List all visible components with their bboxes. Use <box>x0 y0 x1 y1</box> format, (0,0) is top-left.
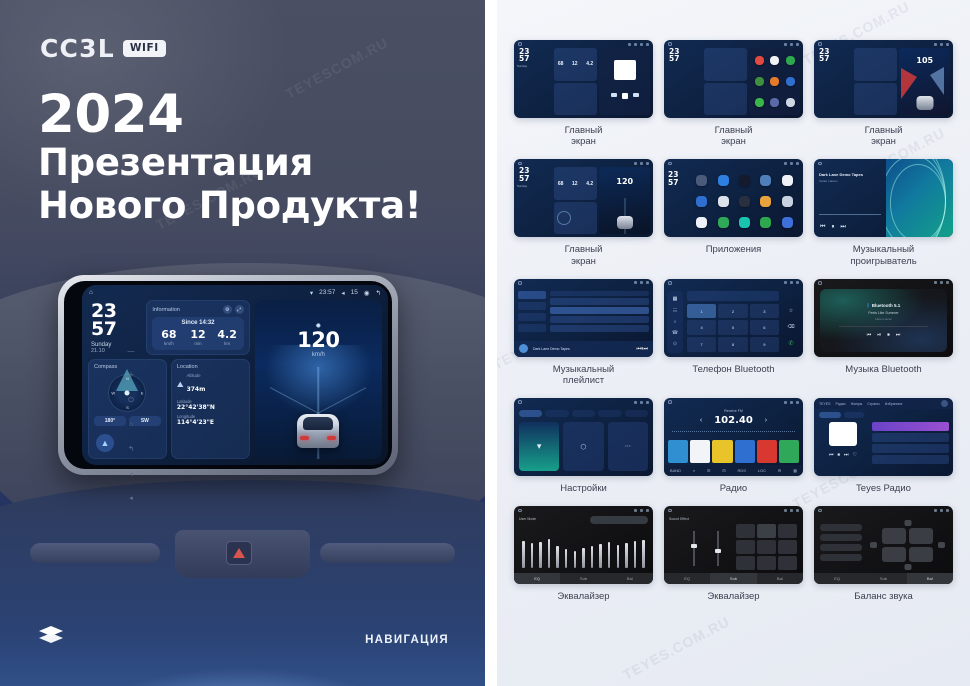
thumb-stat: 12 <box>572 61 578 67</box>
app-icon[interactable] <box>770 77 779 86</box>
radio-controls[interactable]: ⏮ ⏹ ⏭ ♡ <box>819 452 867 458</box>
list-item[interactable] <box>550 291 649 296</box>
balance-right-button[interactable] <box>938 542 945 548</box>
thumb-stats: 68 12 4.2 <box>554 167 598 200</box>
teyes-radio-filters[interactable] <box>819 412 948 418</box>
status-dot <box>790 43 793 46</box>
thumbnail-bt-music[interactable]: ᛒ Bluetooth 5.1 Feels Like Summer Carter… <box>814 279 953 357</box>
preset-button[interactable] <box>757 556 776 570</box>
thumb-widgets: 68 12 4.2 <box>554 167 598 234</box>
thumb-clock: 23 57 Sunday <box>517 167 552 234</box>
home-icon <box>668 162 672 166</box>
track-info: Dark Lane Demo Tapes Carter Lauren <box>819 172 884 183</box>
plus-icon[interactable]: ＋ <box>128 372 135 379</box>
preset-button[interactable] <box>736 524 755 538</box>
eq-preset-selector[interactable] <box>590 516 648 524</box>
thumb-clock: 23 57 Sunday <box>517 48 552 115</box>
tab-eq[interactable]: EQ <box>664 573 710 584</box>
gallery-item[interactable]: Receive FM ‹ 102.40 › <box>664 398 803 494</box>
filter-chip[interactable] <box>844 412 864 418</box>
compass-west: W <box>111 391 115 396</box>
station-row[interactable] <box>872 422 949 431</box>
tab-sub[interactable]: Sub <box>710 573 756 584</box>
trip-stat: 4.2 km <box>213 329 242 346</box>
thumbnail-home-apps[interactable]: 23 57 <box>664 40 803 118</box>
more-card[interactable]: ⋯ <box>608 422 648 471</box>
balance-left-button[interactable] <box>870 542 877 548</box>
screen-left-column: 23 57 Sunday 21.10 Information <box>88 300 250 459</box>
station-list[interactable] <box>872 422 949 472</box>
thumb-speed: 105 <box>899 56 950 65</box>
eq-slider[interactable] <box>531 543 534 569</box>
thumbnail-home-road[interactable]: 23 57 Sunday 68 12 4.2 <box>514 159 653 237</box>
wifi-card[interactable]: ▾ <box>519 422 559 471</box>
preset-button[interactable] <box>757 524 776 538</box>
band-icon[interactable]: BAND <box>670 468 681 473</box>
dialpad-key[interactable]: 5 <box>718 320 747 335</box>
settings-tabs[interactable] <box>519 410 648 417</box>
thumbnail-teyes-radio[interactable]: TEYES Радио Жанры Страны Избранное <box>814 398 953 476</box>
track-artist: Carter Lauren <box>819 179 884 183</box>
app-icon[interactable] <box>718 196 729 207</box>
call-history-icon[interactable]: ☎ <box>672 330 678 336</box>
thumb-minutes: 57 <box>517 55 552 62</box>
thumbnail-eq-bars[interactable]: User Mode <box>514 506 653 584</box>
preset-stations[interactable] <box>668 440 799 463</box>
minus-icon[interactable]: — <box>128 348 135 355</box>
app-icon[interactable] <box>770 56 779 65</box>
eq-slider[interactable] <box>565 549 568 568</box>
eq-tabs[interactable]: EQ Sub Bal <box>514 573 653 584</box>
volume-level: 15 <box>351 289 358 296</box>
speaker-grid <box>882 528 933 562</box>
bt-controls[interactable]: ⏮ ⏯ ⏹ ⏭ <box>867 332 901 338</box>
thumbnail-music-player[interactable]: Dark Lane Demo Tapes Carter Lauren ⏮ ⏸ ⏭ <box>814 159 953 237</box>
thumb-minutes: 57 <box>517 175 552 182</box>
brand-logo: CC3L WIFI <box>40 34 166 63</box>
preset-station[interactable] <box>735 440 755 463</box>
eq-slider[interactable] <box>582 548 585 568</box>
preset-station[interactable] <box>779 440 799 463</box>
fade-front-button[interactable] <box>904 520 911 526</box>
app-icon[interactable] <box>760 175 771 186</box>
thumbnail-settings[interactable]: ▾ ⬡ ⋯ <box>514 398 653 476</box>
app-icon[interactable] <box>739 175 750 186</box>
app-icon[interactable] <box>770 98 779 107</box>
app-icon[interactable] <box>760 196 771 207</box>
eq-slider[interactable] <box>608 542 611 568</box>
dialpad-key[interactable]: 1 <box>687 304 716 319</box>
dialpad-key[interactable]: 7 <box>687 337 716 352</box>
gallery-item[interactable]: 23 57 105 <box>814 40 953 147</box>
eq-tabs[interactable]: EQ Sub Bal <box>814 573 953 584</box>
page-title: 2024 Презентация Нового Продукта! <box>38 88 421 228</box>
eq-slider[interactable] <box>617 545 620 569</box>
gallery-item[interactable]: 23 57 Sunday 68 12 4.2 <box>514 159 653 266</box>
information-actions: ⚙ ⤢ <box>223 305 244 314</box>
eq-slider[interactable] <box>574 551 577 569</box>
app-icon[interactable] <box>755 77 764 86</box>
fader-track[interactable] <box>717 531 719 566</box>
hotspot-icon: ⬡ <box>580 443 586 451</box>
home-icon[interactable]: ⌂ <box>129 421 133 428</box>
phone-actions[interactable]: ☆ ⌫ ✆ <box>783 303 799 352</box>
thumb-content: 23 57 105 <box>817 48 950 115</box>
stop-icon[interactable]: ⏹ <box>838 452 841 458</box>
dialpad-key[interactable]: 3 <box>750 304 779 319</box>
next-icon[interactable]: ⏭ <box>844 452 849 458</box>
dialpad-key[interactable]: 6 <box>750 320 779 335</box>
app-icon[interactable] <box>786 56 795 65</box>
gallery-panel: TEYES.COM.RU TEYESCOM.RU TEYES.COM.RU TE… <box>497 0 970 686</box>
expand-icon[interactable]: ⤢ <box>235 305 244 314</box>
list-item[interactable] <box>550 316 649 323</box>
power-icon[interactable]: ⏻ <box>128 397 134 404</box>
dialpad-key[interactable]: 4 <box>687 320 716 335</box>
back-icon[interactable]: ↰ <box>128 446 134 453</box>
status-dot <box>946 509 949 512</box>
teyes-radio-topbar[interactable]: TEYES Радио Жанры Страны Избранное <box>814 398 953 409</box>
gallery-item[interactable]: EQ Sub Bal Баланс звука <box>814 506 953 602</box>
thumb-minutes: 57 <box>668 178 678 187</box>
thumb-content: 23 57 Sunday 68 12 4.2 <box>517 167 650 234</box>
eq-slider[interactable] <box>539 542 542 568</box>
preset-row[interactable] <box>820 554 862 561</box>
tab-wifi[interactable] <box>519 410 542 417</box>
layers-icon[interactable] <box>38 625 64 650</box>
tab-sound[interactable] <box>545 410 568 417</box>
fader-track[interactable] <box>693 531 695 566</box>
effect-presets[interactable] <box>736 524 797 570</box>
eq-slider[interactable] <box>634 541 637 568</box>
home-icon <box>518 509 522 513</box>
app-icon[interactable] <box>782 217 793 228</box>
tab-sub[interactable]: Sub <box>560 573 606 584</box>
home-icon <box>668 42 672 46</box>
thumb-speed: 120 <box>599 177 650 186</box>
thumb-app-shortcuts[interactable] <box>749 48 800 115</box>
contacts-icon[interactable]: ☷ <box>673 308 677 314</box>
eq-preset-label: User Mode <box>519 517 536 521</box>
progress-bar[interactable] <box>819 214 881 215</box>
preset-button[interactable] <box>778 540 797 554</box>
nav-tab[interactable]: Радио <box>835 402 845 406</box>
thumbnail-home-media[interactable]: 23 57 Sunday 68 12 4.2 <box>514 40 653 118</box>
eq-tabs[interactable]: EQ Sub Bal <box>664 573 803 584</box>
prev-icon[interactable]: ⏮ <box>820 224 825 231</box>
thumb-weekday: Sunday <box>517 64 552 68</box>
balance-presets[interactable] <box>820 524 862 561</box>
next-icon[interactable]: ⏭ <box>840 224 845 231</box>
stat-value: 4.2 <box>213 329 242 340</box>
gallery-item[interactable]: Sound Effect <box>664 506 803 602</box>
trip-card: Since 14:32 68 km/h 12 <box>152 317 243 350</box>
dialpad-key[interactable]: 8 <box>718 337 747 352</box>
gallery-item[interactable]: 23 57 <box>664 159 803 266</box>
tab-eq[interactable]: EQ <box>514 573 560 584</box>
app-icon[interactable] <box>718 175 729 186</box>
status-dot <box>790 281 793 284</box>
trip-stat: 68 km/h <box>154 329 183 346</box>
vol-down-icon[interactable]: ◂ <box>129 471 133 478</box>
gallery-item[interactable]: ▾ ⬡ ⋯ Настройки <box>514 398 653 494</box>
volume-icon[interactable]: ◂ <box>341 289 344 297</box>
home-icon[interactable]: ⌂ <box>89 289 93 296</box>
settings-icon[interactable]: ⊙ <box>673 341 677 347</box>
track-list[interactable] <box>550 291 649 339</box>
filter-chip[interactable] <box>819 412 841 418</box>
tab-system[interactable] <box>598 410 621 417</box>
thumb-compass-location <box>554 202 598 235</box>
app-icon[interactable] <box>739 196 750 207</box>
thumb-minutes: 57 <box>817 55 852 62</box>
dialpad-key[interactable]: 2 <box>718 304 747 319</box>
play-pause-icon[interactable]: ⏯ <box>877 332 881 338</box>
preset-button[interactable] <box>778 556 797 570</box>
sidebar-item[interactable] <box>518 291 546 299</box>
mini-player-bar[interactable]: Dark Lane Demo Tapes ⏮⏸⏭ <box>514 341 653 357</box>
hotspot-card[interactable]: ⬡ <box>563 422 603 471</box>
status-dot <box>940 43 943 46</box>
thumb-status-bar <box>664 159 803 167</box>
station-row[interactable] <box>872 444 949 453</box>
eq-slider[interactable] <box>548 539 551 568</box>
media-controls[interactable] <box>599 93 650 99</box>
preset-button[interactable] <box>757 540 776 554</box>
gallery-item[interactable]: 23 57 <box>664 40 803 147</box>
album-art <box>614 60 636 80</box>
eq-slider[interactable] <box>599 544 602 569</box>
tab-balance[interactable]: Bal <box>607 573 653 584</box>
status-dot <box>940 281 943 284</box>
app-icon[interactable] <box>755 98 764 107</box>
rds-icon[interactable]: RDS <box>737 468 745 473</box>
avatar[interactable] <box>941 400 948 407</box>
app-icon[interactable] <box>696 196 707 207</box>
eq-slider[interactable] <box>625 543 628 569</box>
trip-stat: 12 min <box>183 329 212 346</box>
thumb-widgets <box>854 48 898 115</box>
now-playing-panel: ⏮ ⏹ ⏭ ♡ <box>819 422 867 471</box>
favorite-icon[interactable]: ☆ <box>789 308 793 314</box>
preset-button[interactable] <box>736 556 755 570</box>
playlist-sidebar[interactable] <box>518 291 546 332</box>
pause-icon[interactable]: ⏸ <box>831 224 834 231</box>
car-taillight-right <box>327 436 336 440</box>
gallery-item[interactable]: ▦ ☷ ⌕ ☎ ⊙ 1 2 3 4 5 6 7 <box>664 279 803 386</box>
compass-dial <box>557 211 571 225</box>
tab-balance[interactable]: Bal <box>757 573 803 584</box>
eq-icon[interactable]: ⊟ <box>722 468 725 473</box>
search-icon[interactable]: ⌕ <box>674 319 677 325</box>
fader-group[interactable] <box>682 526 730 570</box>
search-icon[interactable]: ⌕ <box>693 468 695 473</box>
dialpad-key[interactable]: 9 <box>750 337 779 352</box>
location-widget[interactable]: Location ⛰ Altitude 374m <box>171 359 250 459</box>
frequency-scale[interactable] <box>672 431 795 435</box>
back-arrow-icon[interactable]: ↰ <box>376 289 381 297</box>
next-icon[interactable] <box>633 93 639 97</box>
thumb-content: 23 57 Sunday 68 12 4.2 <box>517 48 650 115</box>
preset-station[interactable] <box>757 440 777 463</box>
list-item[interactable] <box>550 298 649 305</box>
status-dot <box>934 509 937 512</box>
thumb-media-panel <box>599 48 650 115</box>
wifi-icon[interactable]: ▾ <box>310 289 313 297</box>
eq-slider[interactable] <box>556 546 559 569</box>
status-dot <box>634 43 637 46</box>
stat-unit: km <box>213 341 242 346</box>
gallery-item[interactable]: Dark Lane Demo Tapes Carter Lauren ⏮ ⏸ ⏭ <box>814 159 953 266</box>
preset-row[interactable] <box>820 544 862 551</box>
status-dot <box>784 281 787 284</box>
status-dot <box>640 43 643 46</box>
gallery-item[interactable]: 23 57 Sunday 68 12 4.2 <box>514 40 653 147</box>
thumb-location <box>577 202 598 235</box>
app-icon[interactable] <box>718 217 729 228</box>
stat-unit: min <box>183 341 212 346</box>
thumbnail-home-speed[interactable]: 23 57 105 <box>814 40 953 118</box>
play-controls-icon[interactable]: ⏮⏸⏭ <box>636 346 648 352</box>
tab-display[interactable] <box>572 410 595 417</box>
play-icon[interactable] <box>622 93 628 99</box>
app-icon[interactable] <box>696 175 707 186</box>
list-item[interactable] <box>550 307 649 314</box>
loc-icon[interactable]: LOC <box>758 468 766 473</box>
head-unit-side-buttons[interactable]: — ＋ ⏻ ⌂ ↰ ◂ ◂ <box>124 339 138 511</box>
sidebar-item[interactable] <box>518 313 546 321</box>
eq-sliders[interactable] <box>522 524 645 568</box>
app-icon[interactable] <box>782 175 793 186</box>
progress-bar[interactable] <box>839 326 928 327</box>
apps-icon[interactable]: ◉ <box>364 289 370 297</box>
preset-station[interactable] <box>690 440 710 463</box>
station-row[interactable] <box>872 455 949 464</box>
preset-button[interactable] <box>778 524 797 538</box>
status-dot <box>646 43 649 46</box>
radio-band: Receive FM <box>664 409 803 413</box>
thumb-stat: 12 <box>572 181 578 187</box>
preset-button[interactable] <box>736 540 755 554</box>
prev-icon[interactable]: ⏮ <box>829 452 834 458</box>
thumbnail-balance[interactable]: EQ Sub Bal <box>814 506 953 584</box>
tab-eq[interactable]: EQ <box>814 573 860 584</box>
bt-track: Feels Like Summer <box>868 311 898 315</box>
app-icon[interactable] <box>786 98 795 107</box>
sidebar-item[interactable] <box>518 324 546 332</box>
phone-sidebar[interactable]: ▦ ☷ ⌕ ☎ ⊙ <box>667 291 683 353</box>
radio-toolbar[interactable]: BAND ⌕ ☰ ⊟ RDS LOC ⚙ ▦ <box>664 465 803 476</box>
thumb-status-bar <box>814 506 953 514</box>
nav-tab[interactable]: Жанры <box>851 402 863 406</box>
visualizer <box>886 159 953 237</box>
preset-station[interactable] <box>712 440 732 463</box>
gallery-item[interactable]: TEYES Радио Жанры Страны Избранное <box>814 398 953 494</box>
next-station-icon[interactable]: › <box>765 417 767 424</box>
altitude-label: Altitude <box>187 373 206 378</box>
app-icon[interactable] <box>782 196 793 207</box>
thumb-road-view: 105 <box>899 48 950 115</box>
backspace-icon[interactable]: ⌫ <box>787 324 794 330</box>
next-icon[interactable]: ⏭ <box>896 332 901 338</box>
dialpad[interactable]: 1 2 3 4 5 6 7 8 9 <box>687 304 779 352</box>
sidebar-item[interactable] <box>518 302 546 310</box>
app-icon[interactable] <box>755 56 764 65</box>
information-widget[interactable]: Information ⚙ ⤢ Since 14:32 <box>146 300 249 355</box>
thumbnail-radio[interactable]: Receive FM ‹ 102.40 › <box>664 398 803 476</box>
app-icon[interactable] <box>696 217 707 228</box>
settings-cards[interactable]: ▾ ⬡ ⋯ <box>519 422 648 471</box>
favorite-icon[interactable]: ♡ <box>853 452 857 458</box>
status-dot <box>946 281 949 284</box>
prev-station-icon[interactable]: ‹ <box>700 417 702 424</box>
app-drawer-grid[interactable] <box>690 169 799 233</box>
settings-icon[interactable]: ⚙ <box>778 468 782 473</box>
thumbnail-label: Радио <box>664 483 803 494</box>
gallery-row: 23 57 Sunday 68 12 4.2 <box>514 40 954 147</box>
prev-icon[interactable] <box>611 93 617 97</box>
preset-row[interactable] <box>820 534 862 541</box>
vol-up-icon[interactable]: ◂ <box>129 495 133 502</box>
station-row[interactable] <box>872 433 949 442</box>
tab-sub[interactable]: Sub <box>860 573 906 584</box>
app-icon[interactable] <box>760 217 771 228</box>
prev-icon[interactable]: ⏮ <box>867 332 872 338</box>
album-art <box>519 344 528 353</box>
eq-slider[interactable] <box>522 541 525 568</box>
tab-balance[interactable]: Bal <box>907 573 953 584</box>
thumb-road-view: 120 <box>599 167 650 234</box>
home-icon <box>818 42 822 46</box>
tab-about[interactable] <box>625 410 648 417</box>
list-item[interactable] <box>550 325 649 332</box>
preset-row[interactable] <box>820 524 862 531</box>
thumbnail-label: Главныйэкран <box>814 125 953 147</box>
player-controls[interactable]: ⏮ ⏸ ⏭ <box>820 224 846 231</box>
eq-slider[interactable] <box>642 540 645 568</box>
road-view-widget[interactable]: ✹ 120 km/h <box>255 300 382 459</box>
radio-tuner[interactable]: ‹ 102.40 › <box>664 415 803 426</box>
navigation-arrow-icon[interactable]: ▲ <box>96 434 114 452</box>
app-icon[interactable] <box>739 217 750 228</box>
thumbnail-playlist[interactable]: Dark Lane Demo Tapes ⏮⏸⏭ <box>514 279 653 357</box>
altitude-row: ⛰ Altitude 374m <box>177 373 244 396</box>
home-icon <box>668 400 672 404</box>
app-icon[interactable] <box>786 77 795 86</box>
gear-icon[interactable]: ⚙ <box>223 305 232 314</box>
gallery-item[interactable]: User Mode <box>514 506 653 602</box>
thumbnail-label: Баланс звука <box>814 591 953 602</box>
nav-tab[interactable]: Избранное <box>885 402 903 406</box>
gallery-item[interactable]: ᛒ Bluetooth 5.1 Feels Like Summer Carter… <box>814 279 953 386</box>
dialpad-icon[interactable]: ▦ <box>673 296 678 302</box>
thumbnail-apps[interactable]: 23 57 <box>664 159 803 237</box>
apps-icon[interactable]: ▦ <box>793 468 797 473</box>
thumbnail-bt-phone[interactable]: ▦ ☷ ⌕ ☎ ⊙ 1 2 3 4 5 6 7 <box>664 279 803 357</box>
stop-icon[interactable]: ⏹ <box>887 332 890 338</box>
fade-rear-button[interactable] <box>904 564 911 570</box>
status-dot <box>640 162 643 165</box>
call-icon[interactable]: ✆ <box>788 340 793 347</box>
list-icon[interactable]: ☰ <box>707 468 711 473</box>
preset-station[interactable] <box>668 440 688 463</box>
gallery-item[interactable]: Dark Lane Demo Tapes ⏮⏸⏭ Музыкальныйплей… <box>514 279 653 386</box>
nav-tab[interactable]: Страны <box>867 402 879 406</box>
thumbnail-eq-faders[interactable]: Sound Effect <box>664 506 803 584</box>
information-header: Information ⚙ ⤢ <box>152 305 243 314</box>
balance-pad[interactable] <box>870 520 945 570</box>
eq-slider[interactable] <box>591 546 594 568</box>
